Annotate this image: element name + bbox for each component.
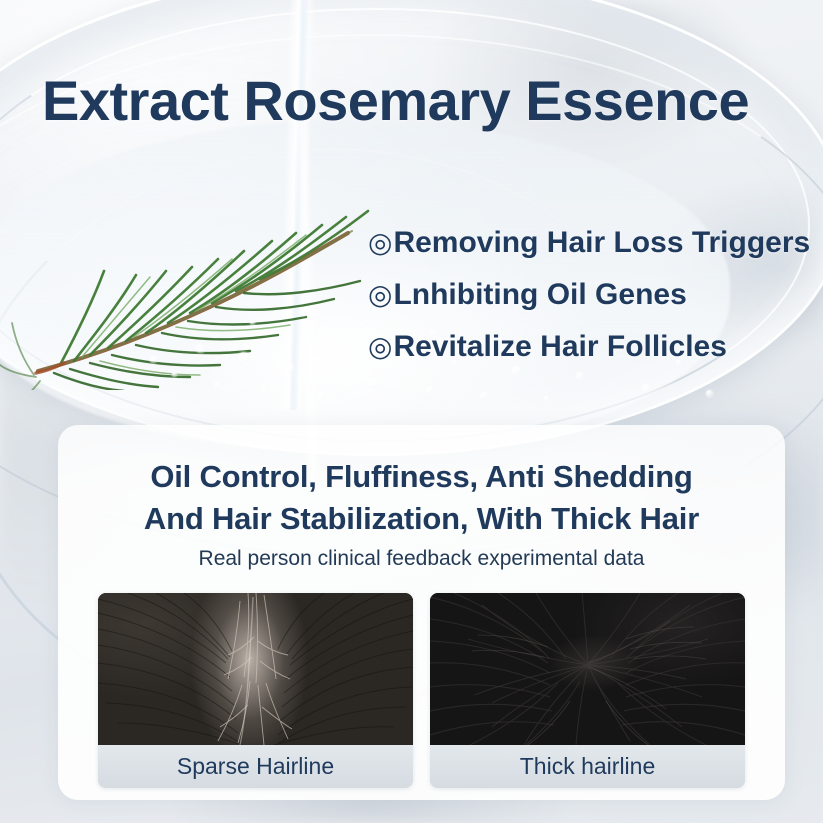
scalp-thick-hairline-photo bbox=[430, 593, 745, 745]
scalp-sparse-hairline-photo bbox=[98, 593, 413, 745]
card-headline-line1: Oil Control, Fluffiness, Anti Shedding bbox=[58, 456, 785, 498]
double-circle-bullet-icon: ◎ bbox=[368, 333, 392, 361]
card-headline: Oil Control, Fluffiness, Anti Shedding A… bbox=[58, 456, 785, 539]
comparison-panels: Sparse Hairline bbox=[98, 593, 745, 788]
panel-thick-caption: Thick hairline bbox=[430, 745, 745, 788]
benefit-item-2-label: Lnhibiting Oil Genes bbox=[393, 280, 686, 310]
panel-sparse-hairline: Sparse Hairline bbox=[98, 593, 413, 788]
page-title: Extract Rosemary Essence bbox=[42, 68, 823, 133]
double-circle-bullet-icon: ◎ bbox=[368, 229, 392, 257]
hair-strands-thick bbox=[430, 593, 745, 745]
benefit-item-1-label: Removing Hair Loss Triggers bbox=[393, 228, 810, 258]
double-circle-bullet-icon: ◎ bbox=[368, 281, 392, 309]
panel-thick-hairline: Thick hairline bbox=[430, 593, 745, 788]
hair-strands-sparse bbox=[98, 593, 413, 745]
results-card: Oil Control, Fluffiness, Anti Shedding A… bbox=[58, 425, 785, 800]
product-poster: Extract Rosemary Essence ◎ Removing Hair… bbox=[0, 0, 823, 823]
panel-sparse-caption: Sparse Hairline bbox=[98, 745, 413, 788]
benefit-item-2: ◎ Lnhibiting Oil Genes bbox=[368, 280, 823, 310]
benefits-list: ◎ Removing Hair Loss Triggers ◎ Lnhibiti… bbox=[368, 228, 823, 384]
card-headline-line2: And Hair Stabilization, With Thick Hair bbox=[58, 498, 785, 540]
card-subhead: Real person clinical feedback experiment… bbox=[58, 547, 785, 571]
benefit-item-3-label: Revitalize Hair Follicles bbox=[393, 332, 726, 362]
benefit-item-3: ◎ Revitalize Hair Follicles bbox=[368, 332, 823, 362]
benefit-item-1: ◎ Removing Hair Loss Triggers bbox=[368, 228, 823, 258]
